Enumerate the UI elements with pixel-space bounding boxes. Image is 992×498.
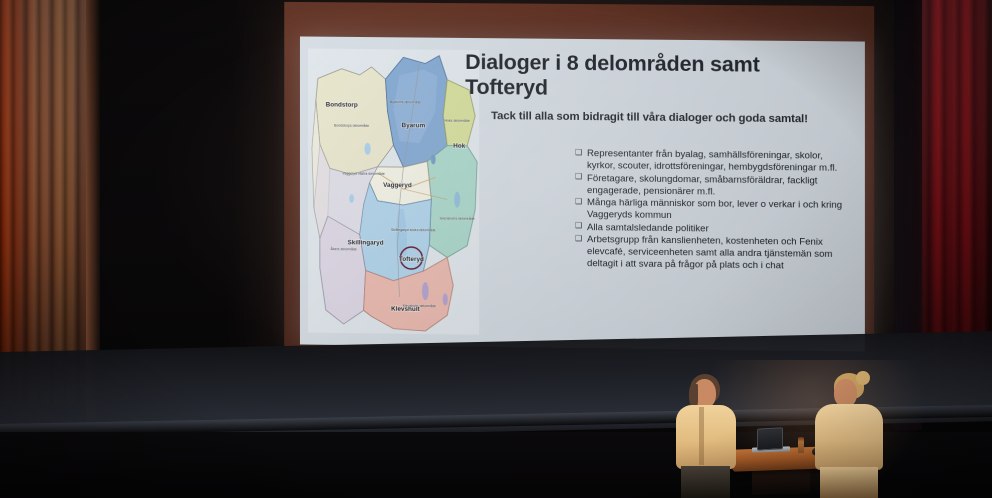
list-item: Företagare, skolungdomar, småbarnsföräld… (575, 172, 848, 199)
list-item: Representanter från byalag, samhällsföre… (575, 148, 848, 175)
auditorium-scene: Bondstorps delområde Byarums delområde H… (0, 0, 992, 498)
presenter-left-trousers (681, 466, 730, 498)
presenter-left (672, 374, 742, 498)
map-sublabel: Bondstorps delområde (334, 124, 369, 128)
map-label-skillingaryd: Skillingaryd (348, 239, 384, 246)
map-sublabel: Byarums delområde (390, 100, 421, 104)
presenter-right-head (834, 379, 857, 407)
map-sublabel: Vaggeryd västra delområde (342, 171, 384, 175)
map-label-byarum: Byarum (402, 122, 426, 129)
presenter-left-shirt-placket (699, 407, 704, 465)
presenter-right-lower (820, 467, 878, 498)
map-sublabel: Hoks delområde (445, 119, 470, 123)
presentation-slide: Bondstorps delområde Byarums delområde H… (300, 36, 865, 351)
map-label-hok: Hok (453, 143, 465, 150)
municipality-map: Bondstorps delområde Byarums delområde H… (308, 48, 479, 334)
map-sublabel: Svenarums delområde (440, 216, 475, 220)
map-sublabel: Åkers delområde (331, 246, 357, 251)
water-bottle (798, 437, 804, 453)
laptop-screen (757, 427, 783, 450)
stage-curtain-left (0, 0, 96, 404)
presenter-right-shirt (815, 404, 883, 470)
map-region-bondstorp (316, 67, 394, 175)
list-item: Många härliga människor som bor, lever o… (575, 197, 848, 224)
map-label-tofteryd: Tofteryd (399, 256, 424, 263)
presenter-right-hair-bun (856, 371, 870, 385)
map-label-vaggeryd: Vaggeryd (383, 182, 412, 189)
map-label-bondstorp: Bondstorp (326, 101, 358, 108)
presenter-left-shirt (676, 405, 736, 469)
slide-bullet-list: Representanter från byalag, samhällsföre… (575, 148, 848, 274)
list-item: Arbetsgrupp från kanslienheten, kostenhe… (575, 234, 848, 273)
table-legs (752, 467, 810, 495)
presenter-right (812, 371, 890, 498)
slide-title: Dialoger i 8 delområden samt Tofteryd (465, 50, 825, 102)
slide-subtitle: Tack till alla som bidragit till våra di… (491, 110, 852, 126)
map-sublabel: Skillingaryd södra delområde (391, 228, 436, 233)
map-label-klevshult: Klevshult (391, 306, 420, 313)
